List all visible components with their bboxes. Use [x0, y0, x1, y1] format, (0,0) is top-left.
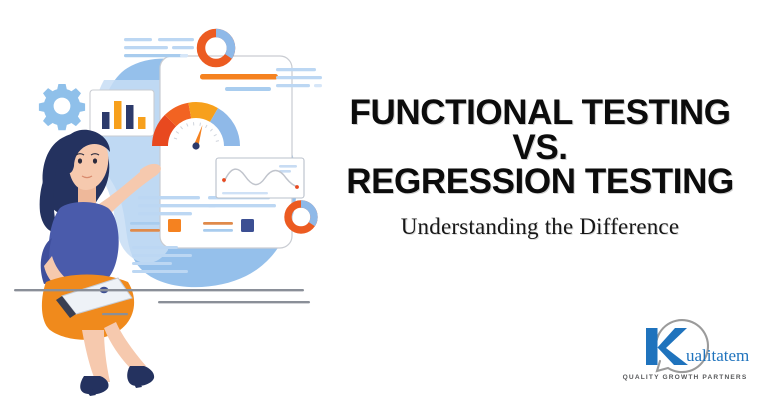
- text-placeholder-top-right: [276, 68, 322, 87]
- bar-4: [138, 117, 146, 129]
- illustration-svg: [0, 0, 330, 402]
- kpi-square-navy: [241, 219, 254, 232]
- bar-chart-card: [90, 90, 154, 136]
- line-chart-card: [216, 158, 304, 198]
- headline-line-3: REGRESSION TESTING: [312, 165, 768, 200]
- page-subtitle: Understanding the Difference: [312, 214, 768, 240]
- card-accent-bar: [200, 74, 278, 80]
- text-placeholder-top-left: [124, 38, 194, 57]
- logo-tagline: QUALITY GROWTH PARTNERS: [610, 374, 760, 381]
- headline-block: FUNCTIONAL TESTING VS. REGRESSION TESTIN…: [312, 96, 768, 240]
- logo-mark: ualitatem: [610, 318, 760, 374]
- bar-2: [114, 101, 122, 129]
- gear-icon: [39, 84, 85, 130]
- gauge-hub: [192, 142, 199, 149]
- bar-1: [102, 112, 110, 129]
- logo-letter-k: [646, 328, 688, 365]
- hero-illustration: [0, 0, 330, 402]
- page-title: FUNCTIONAL TESTING VS. REGRESSION TESTIN…: [312, 96, 768, 200]
- kualitatem-logo-icon: ualitatem: [610, 318, 760, 374]
- logo-wordmark: ualitatem: [686, 346, 749, 365]
- bar-3: [126, 105, 134, 129]
- headline-line-1: FUNCTIONAL TESTING: [312, 96, 768, 131]
- kpi-square-orange: [168, 219, 181, 232]
- headline-line-2: VS.: [312, 131, 768, 166]
- brand-logo[interactable]: ualitatem QUALITY GROWTH PARTNERS: [610, 318, 760, 392]
- banner-root: FUNCTIONAL TESTING VS. REGRESSION TESTIN…: [0, 0, 768, 402]
